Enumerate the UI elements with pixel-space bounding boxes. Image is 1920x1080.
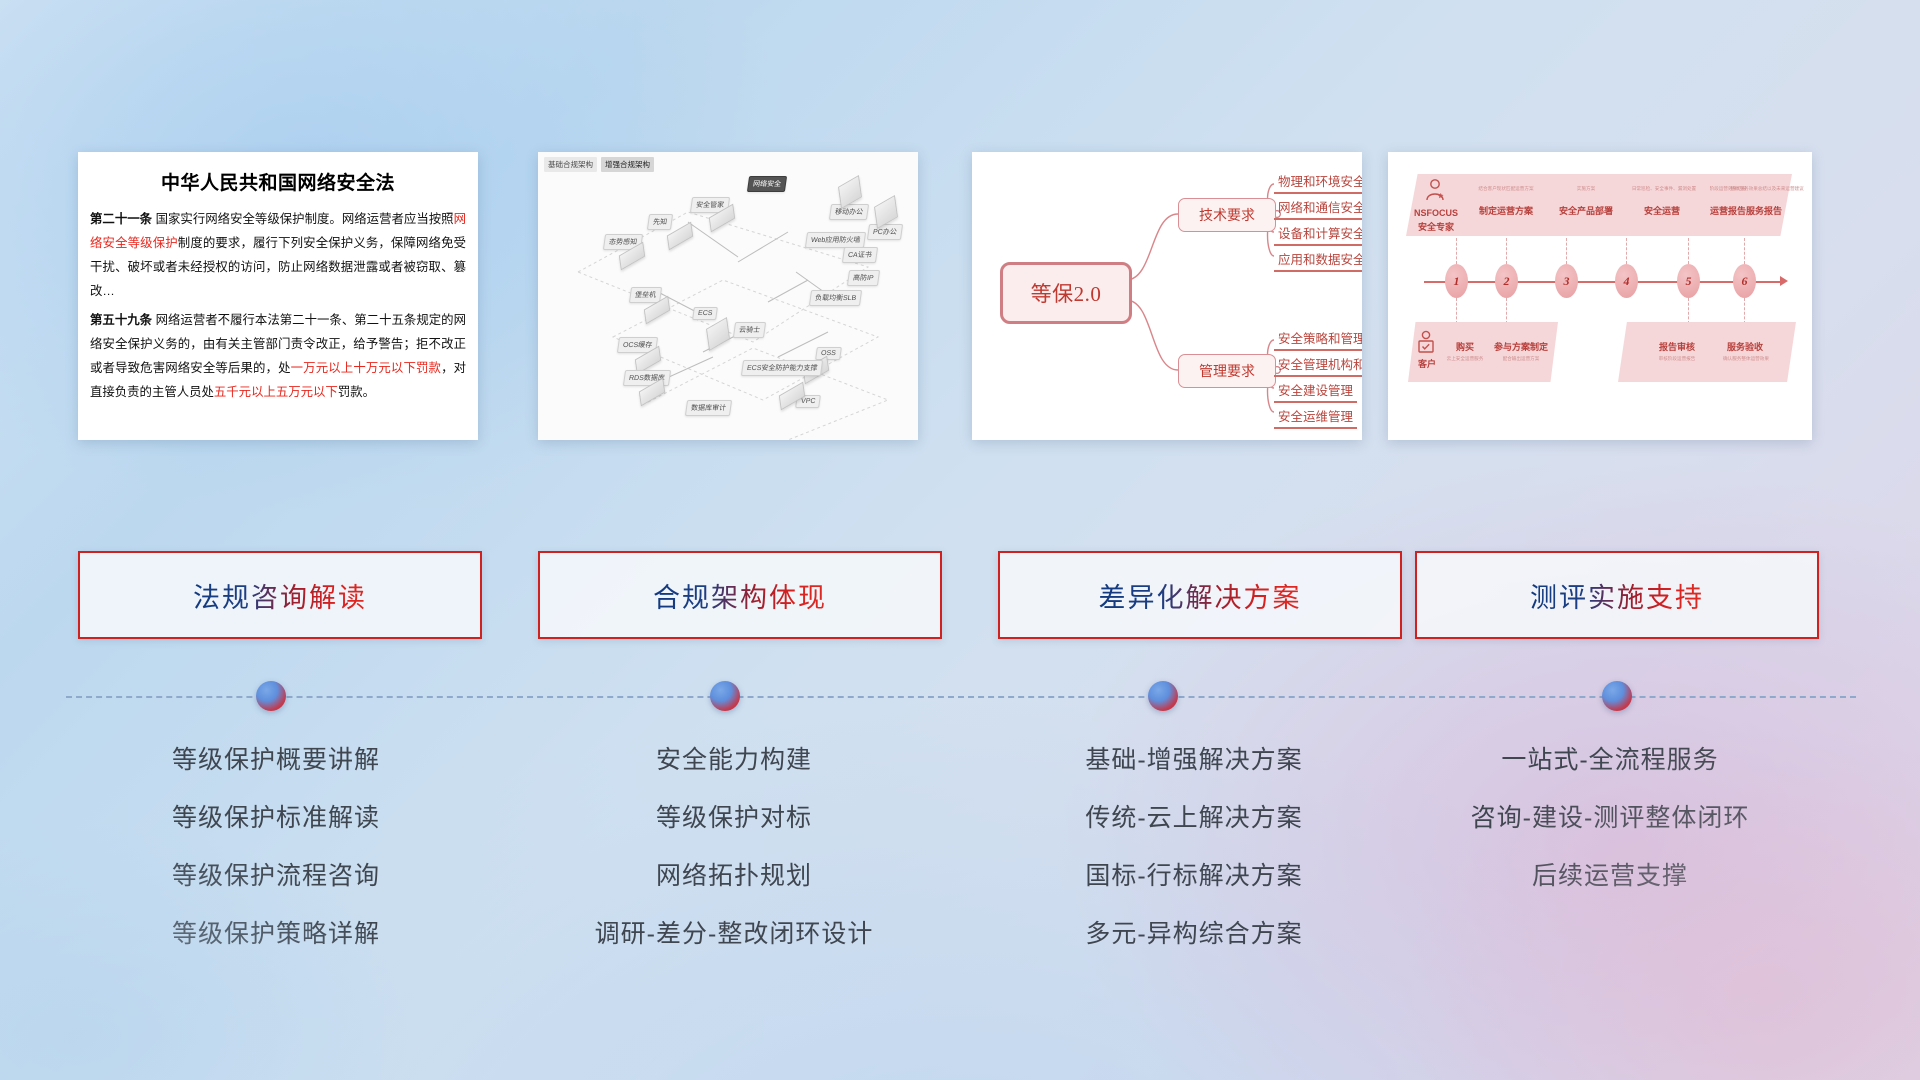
law-title: 中华人民共和国网络安全法	[78, 168, 478, 195]
connector-dash-3	[1566, 238, 1567, 264]
connector-dash-5	[1688, 238, 1689, 264]
law-article-59-label: 第五十九条	[90, 313, 152, 327]
pill-differentiated-solution[interactable]: 差异化解决方案	[998, 551, 1402, 639]
slide-canvas: 中华人民共和国网络安全法 第二十一条 国家实行网络安全等级保护制度。网络运营者应…	[0, 0, 1920, 1080]
law-article-59-highlight-b: 五千元以上五万元以下	[214, 385, 338, 399]
pill-assessment-support[interactable]: 测评实施支持	[1415, 551, 1819, 639]
connector-dash-b4	[1744, 298, 1745, 324]
node-oss: OSS	[815, 347, 842, 360]
mindmap-leaf-app-data: 应用和数据安全	[1274, 248, 1362, 272]
bottom-step-1-sub: 云上安全运营服务	[1438, 356, 1492, 362]
bottom-step-2-label: 参与方案制定	[1488, 340, 1554, 353]
mindmap-leaf-device-compute: 设备和计算安全	[1274, 222, 1362, 246]
top-step-2-sub: 实施方案	[1544, 186, 1628, 192]
node-ca-cert: CA证书	[842, 247, 878, 263]
expert-brand-label: NSFOCUS	[1408, 208, 1464, 218]
timeline-dashed-line	[66, 696, 1856, 698]
service-flow-canvas: NSFOCUS 安全专家 结合客户现状匹配运营方案 制定运营方案 实施方案 安全…	[1388, 152, 1812, 440]
list-item: 等级保护策略详解	[66, 914, 486, 950]
node-anti-ddos-ip: 高防IP	[847, 270, 880, 286]
bottom-step-3-label: 报告审核	[1650, 340, 1704, 353]
connector-dash-b2	[1506, 298, 1507, 324]
mindmap-leaf-network-comm: 网络和通信安全	[1274, 196, 1362, 220]
node-yunqishi: 云骑士	[733, 322, 766, 338]
bottom-step-4-sub: 确认服务整体运营效果	[1706, 356, 1786, 362]
top-step-2-label: 安全产品部署	[1544, 204, 1628, 217]
card-law-document[interactable]: 中华人民共和国网络安全法 第二十一条 国家实行网络安全等级保护制度。网络运营者应…	[78, 152, 478, 440]
pill-1-label: 法规咨询解读	[193, 576, 367, 615]
top-step-5-label: 服务报告	[1728, 204, 1800, 217]
top-step-1-sub: 结合客户现状匹配运营方案	[1464, 186, 1548, 192]
column-solution-items: 基础-增强解决方案 传统-云上解决方案 国标-行标解决方案 多元-异构综合方案	[984, 740, 1404, 972]
top-step-1-label: 制定运营方案	[1464, 204, 1548, 217]
pill-2-label: 合规架构体现	[653, 576, 827, 615]
list-item: 等级保护标准解读	[66, 798, 486, 834]
pill-4-label: 测评实施支持	[1530, 576, 1704, 615]
mindmap-canvas: 等保2.0 技术要求 物理和环境安全 网络和通信安全 设备和计算安全 应用和数据…	[972, 152, 1362, 440]
milestone-1: 1	[1445, 264, 1468, 298]
mindmap-leaf-ops-mgmt: 安全运维管理	[1274, 405, 1357, 429]
law-article-59: 第五十九条 网络运营者不履行本法第二十一条、第二十五条规定的网络安全保护义务的，…	[90, 308, 466, 404]
column-regulation-items: 等级保护概要讲解 等级保护标准解读 等级保护流程咨询 等级保护策略详解	[66, 740, 486, 972]
node-mobile-office: 移动办公	[829, 204, 869, 220]
column-architecture-items: 安全能力构建 等级保护对标 网络拓扑规划 调研-差分-整改闭环设计	[524, 740, 944, 972]
bottom-step-3-sub: 审核阶段运营报告	[1640, 356, 1714, 362]
customer-avatar-icon	[1414, 330, 1438, 354]
column-assessment-items: 一站式-全流程服务 咨询-建设-测评整体闭环 后续运营支撑	[1400, 740, 1820, 914]
node-ecs-support: ECS安全防护能力支撑	[741, 360, 824, 376]
architecture-canvas: 基础合规架构 增强合规架构	[538, 152, 918, 440]
connector-dash-2	[1506, 238, 1507, 264]
connector-dash-b3	[1688, 298, 1689, 324]
connector-dash-6	[1744, 238, 1745, 264]
connector-dash-1	[1456, 238, 1457, 264]
law-article-59-text-c: 罚款。	[338, 385, 375, 399]
node-db-audit: 数据库审计	[685, 400, 732, 416]
card-architecture-diagram[interactable]: 基础合规架构 增强合规架构	[538, 152, 918, 440]
timeline-marker-1[interactable]	[256, 681, 286, 711]
milestone-5: 5	[1677, 264, 1700, 298]
list-item: 多元-异构综合方案	[984, 914, 1404, 950]
mindmap-leaf-physical-env: 物理和环境安全	[1274, 170, 1362, 194]
pill-regulation-consulting[interactable]: 法规咨询解读	[78, 551, 482, 639]
mindmap-branch-technical: 技术要求	[1178, 198, 1276, 232]
list-item: 网络拓扑规划	[524, 856, 944, 892]
timeline-marker-4[interactable]	[1602, 681, 1632, 711]
timeline-marker-2[interactable]	[710, 681, 740, 711]
connector-dash-b1	[1456, 298, 1457, 324]
card-row: 中华人民共和国网络安全法 第二十一条 国家实行网络安全等级保护制度。网络运营者应…	[0, 152, 1920, 442]
pill-3-label: 差异化解决方案	[1099, 576, 1302, 615]
milestone-6: 6	[1733, 264, 1756, 298]
mindmap-branch-management: 管理要求	[1178, 354, 1276, 388]
mindmap-leaf-policy-system: 安全策略和管理制度	[1274, 327, 1362, 351]
list-item: 安全能力构建	[524, 740, 944, 776]
list-item: 基础-增强解决方案	[984, 740, 1404, 776]
list-item: 等级保护概要讲解	[66, 740, 486, 776]
list-item: 咨询-建设-测评整体闭环	[1400, 798, 1820, 834]
node-network-security: 网络安全	[747, 176, 787, 192]
list-item: 调研-差分-整改闭环设计	[524, 914, 944, 950]
bottom-step-1-label: 购买	[1444, 340, 1486, 353]
law-article-21-text-a: 国家实行网络安全等级保护制度。网络运营者应当按照	[152, 212, 454, 226]
node-xianzhi: 先知	[647, 214, 673, 230]
law-body: 第二十一条 国家实行网络安全等级保护制度。网络运营者应当按照网络安全等级保护制度…	[78, 207, 478, 404]
law-article-21-label: 第二十一条	[90, 212, 152, 226]
timeline-arrow-icon	[1780, 276, 1788, 286]
list-item: 传统-云上解决方案	[984, 798, 1404, 834]
mindmap-leaf-org-personnel: 安全管理机构和人员	[1274, 353, 1362, 377]
node-slb: 负载均衡SLB	[809, 290, 862, 306]
list-item: 等级保护对标	[524, 798, 944, 834]
top-step-5-sub: 整体服务效果总结以及未来运营建议	[1724, 186, 1810, 192]
law-article-21: 第二十一条 国家实行网络安全等级保护制度。网络运营者应当按照网络安全等级保护制度…	[90, 207, 466, 303]
list-item: 一站式-全流程服务	[1400, 740, 1820, 776]
law-article-59-highlight-a: 一万元以上十万元以下罚款	[291, 361, 441, 375]
expert-role-label: 安全专家	[1408, 220, 1464, 233]
milestone-3: 3	[1555, 264, 1578, 298]
card-mindmap[interactable]: 等保2.0 技术要求 物理和环境安全 网络和通信安全 设备和计算安全 应用和数据…	[972, 152, 1362, 440]
connector-dash-4	[1626, 238, 1627, 264]
mindmap-root: 等保2.0	[1000, 262, 1132, 324]
node-ecs: ECS	[692, 307, 718, 320]
node-waf: Web应用防火墙	[805, 232, 867, 248]
milestone-4: 4	[1615, 264, 1638, 298]
mindmap-leaf-construction-mgmt: 安全建设管理	[1274, 379, 1357, 403]
card-service-flow[interactable]: NSFOCUS 安全专家 结合客户现状匹配运营方案 制定运营方案 实施方案 安全…	[1388, 152, 1812, 440]
list-item: 后续运营支撑	[1400, 856, 1820, 892]
milestone-2: 2	[1495, 264, 1518, 298]
list-item: 国标-行标解决方案	[984, 856, 1404, 892]
list-item: 等级保护流程咨询	[66, 856, 486, 892]
expert-avatar-icon	[1422, 178, 1448, 204]
timeline-axis	[1424, 281, 1784, 283]
bottom-step-4-label: 服务验收	[1718, 340, 1772, 353]
bottom-step-2-sub: 配合输出运营方案	[1486, 356, 1556, 362]
pill-compliance-architecture[interactable]: 合规架构体现	[538, 551, 942, 639]
node-pc-office: PC办公	[867, 224, 903, 240]
timeline-marker-3[interactable]	[1148, 681, 1178, 711]
